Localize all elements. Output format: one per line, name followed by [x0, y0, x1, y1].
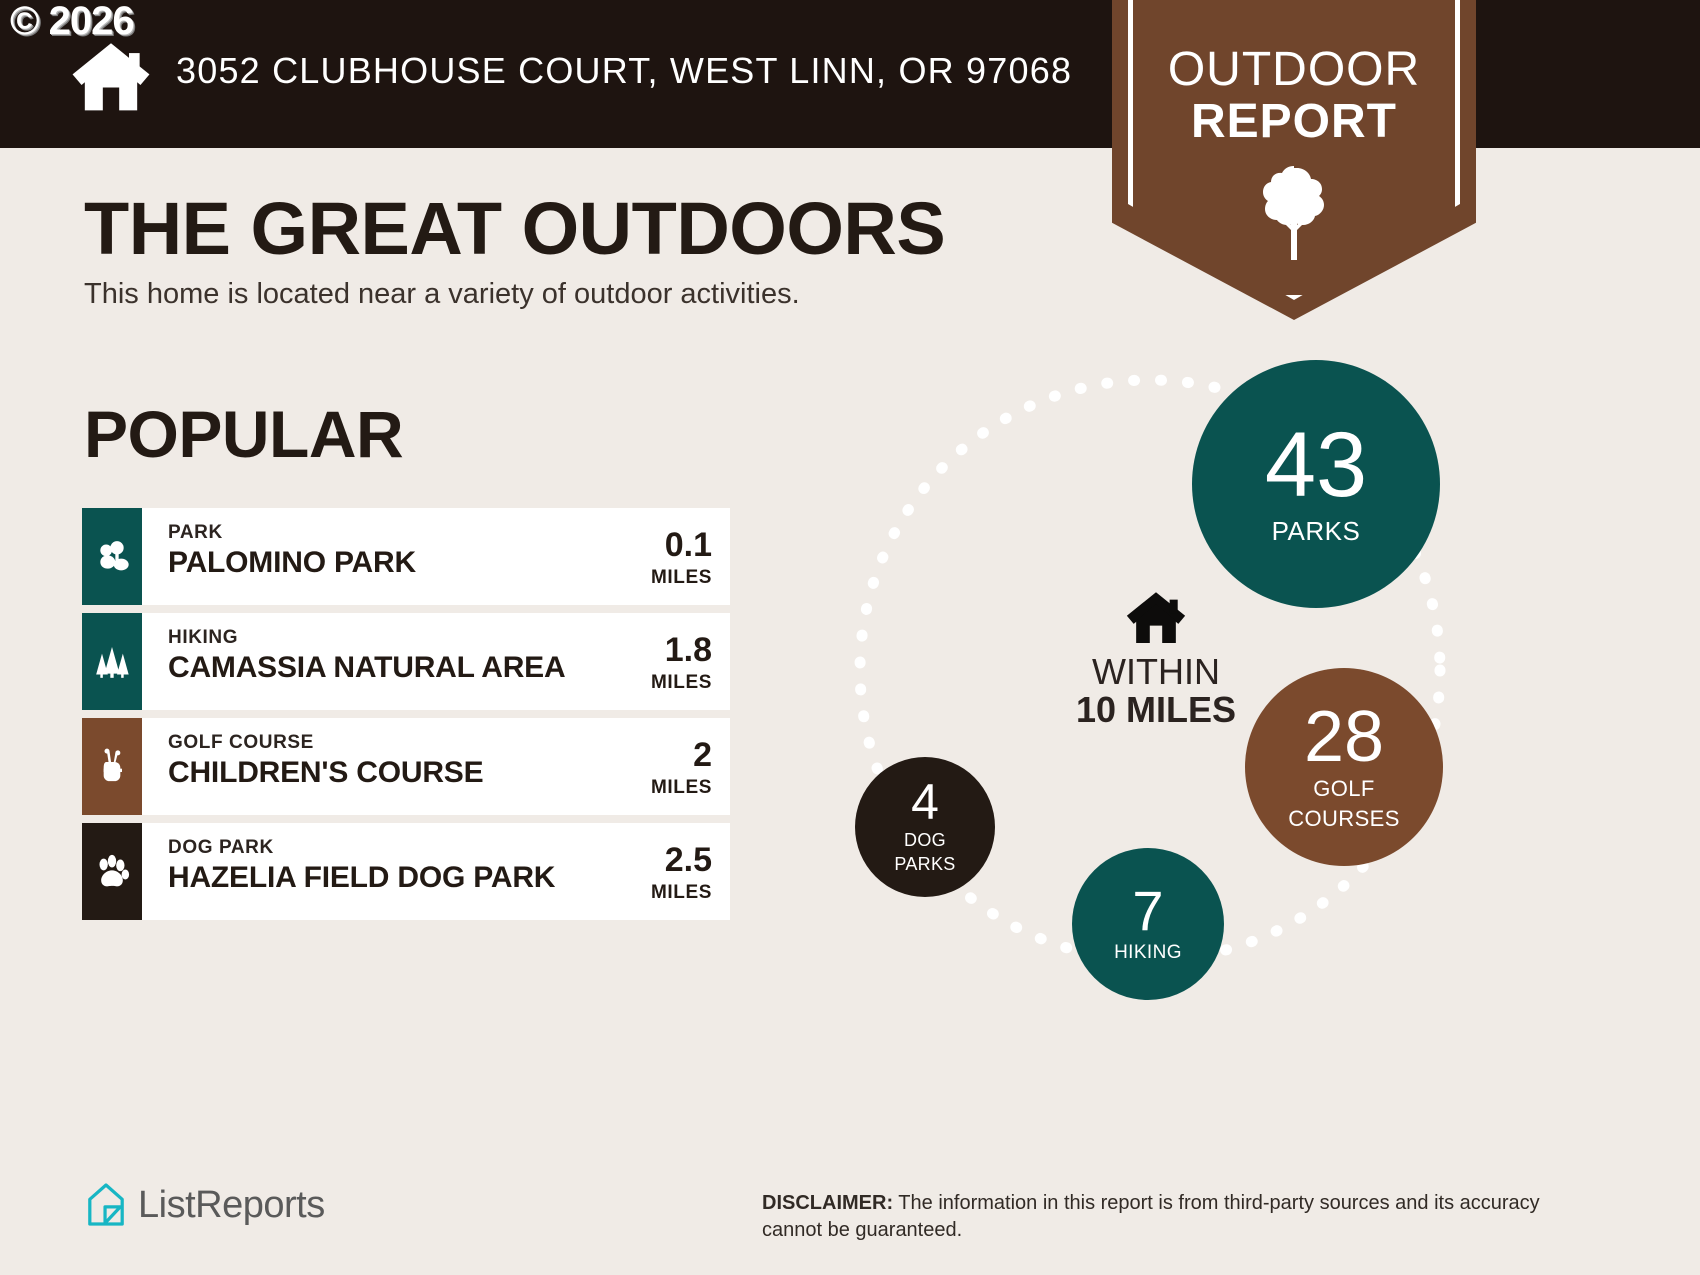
list-item-category: PARK	[168, 522, 618, 544]
disclaimer: DISCLAIMER: The information in this repo…	[762, 1190, 1562, 1244]
list-item-name: CAMASSIA NATURAL AREA	[168, 652, 618, 684]
list-item[interactable]: GOLF COURSE CHILDREN'S COURSE 2 MILES	[82, 718, 730, 815]
distance-unit: MILES	[618, 567, 712, 589]
list-item[interactable]: DOG PARK HAZELIA FIELD DOG PARK 2.5 MILE…	[82, 823, 730, 920]
distance-unit: MILES	[618, 777, 712, 799]
bubble-parks[interactable]: 43 PARKS	[1192, 360, 1440, 608]
badge-line1: OUTDOOR	[1112, 42, 1476, 97]
diagram-center-label: WITHIN 10 MILES	[1036, 589, 1276, 729]
distance-value: 0.1	[618, 528, 712, 562]
list-item-distance: 2.5 MILES	[618, 823, 730, 920]
page-subtitle: This home is located near a variety of o…	[84, 278, 800, 311]
bubble-golf-label-line1: GOLF	[1313, 777, 1375, 801]
center-label-line2: 10 MILES	[1036, 691, 1276, 729]
listreports-house-icon	[86, 1182, 126, 1228]
list-item[interactable]: HIKING CAMASSIA NATURAL AREA 1.8 MILES	[82, 613, 730, 710]
list-item-distance: 1.8 MILES	[618, 613, 730, 710]
bubble-dog-parks[interactable]: 4 DOG PARKS	[855, 757, 995, 897]
distance-unit: MILES	[618, 672, 712, 694]
distance-value: 1.8	[618, 633, 712, 667]
property-address: 3052 CLUBHOUSE COURT, WEST LINN, OR 9706…	[176, 50, 1072, 92]
paw-print-icon	[82, 823, 142, 920]
pine-trees-icon	[82, 613, 142, 710]
list-item-category: GOLF COURSE	[168, 732, 618, 754]
list-item[interactable]: PARK PALOMINO PARK 0.1 MILES	[82, 508, 730, 605]
listreports-logo[interactable]: ListReports	[86, 1182, 325, 1228]
bubble-dog-label-line2: PARKS	[894, 855, 955, 875]
list-item-name: PALOMINO PARK	[168, 547, 618, 579]
bubble-dog-value: 4	[911, 779, 939, 827]
badge-line2: REPORT	[1112, 94, 1476, 149]
bubble-hiking-value: 7	[1132, 884, 1163, 937]
list-item-distance: 0.1 MILES	[618, 508, 730, 605]
bubble-dog-label-line1: DOG	[904, 831, 946, 851]
bubble-parks-label: PARKS	[1272, 517, 1361, 546]
center-label-line1: WITHIN	[1036, 653, 1276, 691]
disclaimer-label: DISCLAIMER:	[762, 1192, 893, 1214]
amenities-bubble-chart: 43 PARKS 28 GOLF COURSES 7 HIKING 4 DOG …	[800, 340, 1520, 1040]
copyright-watermark: © 2026	[10, 0, 134, 42]
listreports-logo-text: ListReports	[138, 1184, 325, 1227]
bubble-hiking-label: HIKING	[1114, 943, 1182, 964]
house-icon	[1125, 589, 1187, 645]
outdoor-report-page: © 2026 3052 CLUBHOUSE COURT, WEST LINN, …	[0, 0, 1700, 1275]
bubble-parks-value: 43	[1265, 422, 1367, 509]
golf-bag-icon	[82, 718, 142, 815]
bubble-golf-label-line2: COURSES	[1288, 807, 1400, 831]
list-item-name: HAZELIA FIELD DOG PARK	[168, 862, 618, 894]
popular-list: PARK PALOMINO PARK 0.1 MILES HI	[82, 508, 730, 928]
list-item-name: CHILDREN'S COURSE	[168, 757, 618, 789]
bubble-golf-value: 28	[1304, 703, 1384, 771]
page-title: THE GREAT OUTDOORS	[84, 186, 945, 271]
list-item-distance: 2 MILES	[618, 718, 730, 815]
house-icon	[70, 40, 152, 112]
distance-value: 2.5	[618, 843, 712, 877]
section-title-popular: POPULAR	[84, 396, 403, 472]
list-item-category: HIKING	[168, 627, 618, 649]
tree-icon	[1258, 162, 1330, 262]
park-trees-icon	[82, 508, 142, 605]
distance-unit: MILES	[618, 882, 712, 904]
distance-value: 2	[618, 738, 712, 772]
bubble-hiking[interactable]: 7 HIKING	[1072, 848, 1224, 1000]
list-item-category: DOG PARK	[168, 837, 618, 859]
